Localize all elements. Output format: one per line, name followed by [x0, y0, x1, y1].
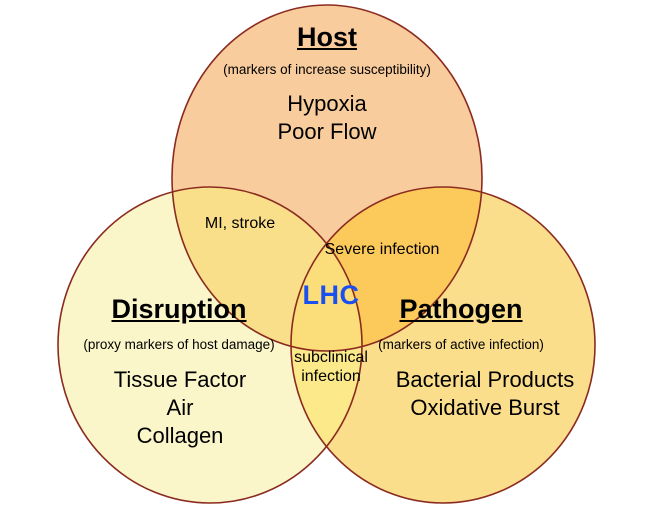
venn-diagram: Host (markers of increase susceptibility… — [0, 0, 655, 528]
venn-shapes — [0, 0, 655, 528]
